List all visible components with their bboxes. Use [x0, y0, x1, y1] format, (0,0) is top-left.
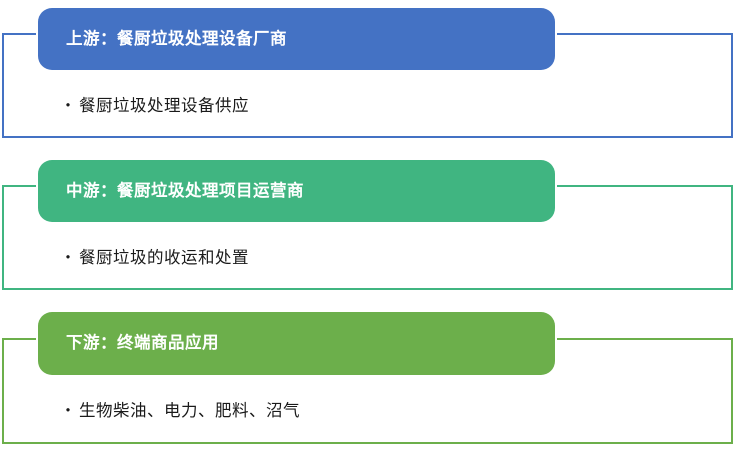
stage-downstream-description: 生物柴油、电力、肥料、沼气	[79, 402, 300, 422]
stage-midstream-description: 餐厨垃圾的收运和处置	[79, 249, 249, 269]
stage-upstream-header-tab[interactable]: 上游：餐厨垃圾处理设备厂商	[38, 8, 555, 70]
bullet-point-icon: ・	[60, 251, 76, 267]
bullet-point-icon: ・	[60, 99, 76, 115]
stage-downstream: 下游：终端商品应用 ・ 生物柴油、电力、肥料、沼气	[0, 304, 741, 453]
stage-midstream-title: 中游：餐厨垃圾处理项目运营商	[38, 182, 304, 200]
stage-midstream-body: ・ 餐厨垃圾的收运和处置	[60, 244, 249, 274]
stage-upstream-body: ・ 餐厨垃圾处理设备供应	[60, 92, 249, 122]
stage-midstream: 中游：餐厨垃圾处理项目运营商 ・ 餐厨垃圾的收运和处置	[0, 152, 741, 302]
stage-upstream-title: 上游：餐厨垃圾处理设备厂商	[38, 30, 287, 48]
stage-downstream-title: 下游：终端商品应用	[38, 334, 219, 352]
stage-downstream-body: ・ 生物柴油、电力、肥料、沼气	[60, 397, 300, 427]
stage-upstream: 上游：餐厨垃圾处理设备厂商 ・ 餐厨垃圾处理设备供应	[0, 0, 741, 150]
stage-downstream-header-tab[interactable]: 下游：终端商品应用	[38, 312, 555, 375]
stage-midstream-header-tab[interactable]: 中游：餐厨垃圾处理项目运营商	[38, 160, 555, 222]
stage-upstream-description: 餐厨垃圾处理设备供应	[79, 97, 249, 117]
bullet-point-icon: ・	[60, 404, 76, 420]
value-chain-diagram: 上游：餐厨垃圾处理设备厂商 ・ 餐厨垃圾处理设备供应 中游：餐厨垃圾处理项目运营…	[0, 0, 741, 453]
